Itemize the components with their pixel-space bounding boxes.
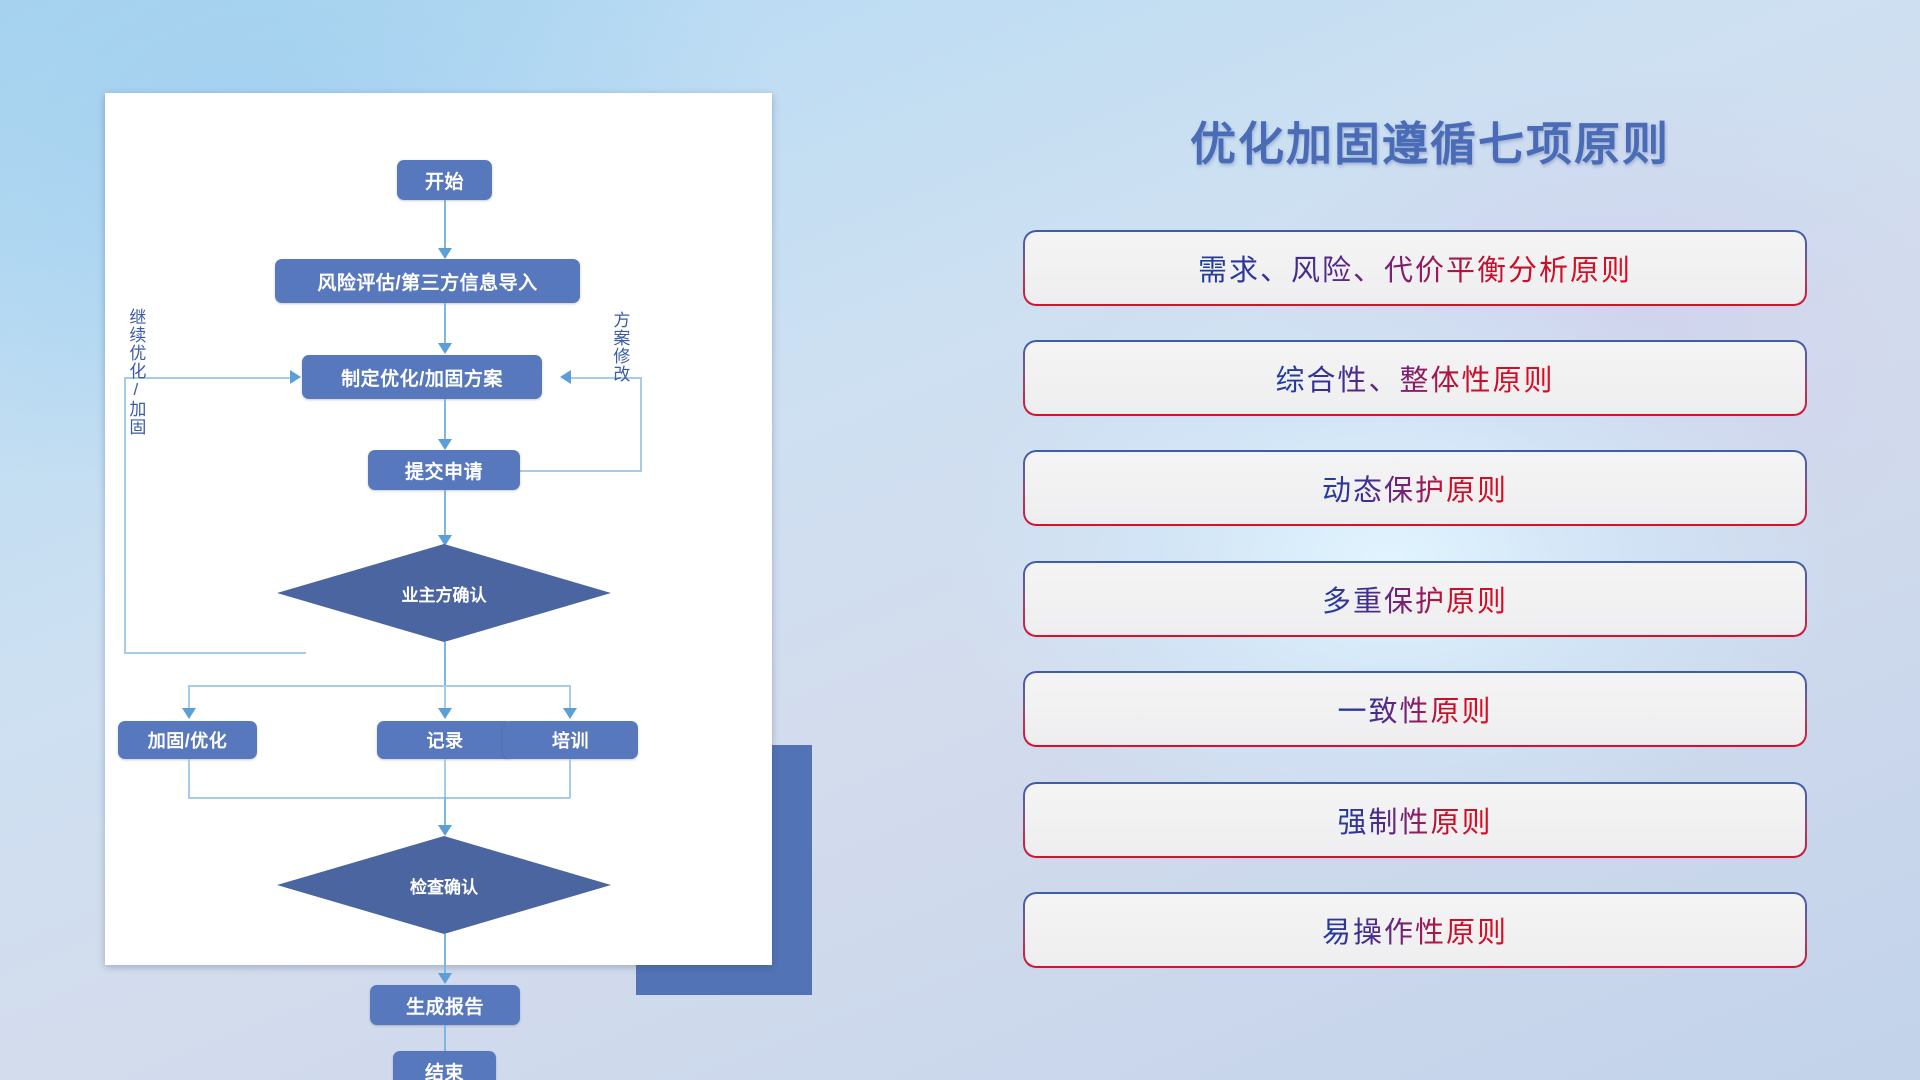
connector-check-report <box>444 934 446 978</box>
flow-node-report-label: 生成报告 <box>406 992 484 1019</box>
arrow-plan-submit <box>438 439 452 450</box>
flowchart-card: 开始 风险评估/第三方信息导入 制定优化/加固方案 继续优化/加固 <box>105 93 772 965</box>
principle-item-3[interactable]: 动态保护原则 <box>1025 452 1805 524</box>
flow-node-plan-label: 制定优化/加固方案 <box>341 364 503 391</box>
arrow-to-training <box>563 708 577 719</box>
edge-label-plan-revision: 方案修改 <box>611 311 628 383</box>
panel-title: 优化加固遵循七项原则 <box>1010 108 1850 174</box>
flow-node-submit[interactable]: 提交申请 <box>368 450 520 490</box>
flow-decision-check-confirm[interactable]: 检查确认 <box>277 836 611 934</box>
connector-owner-down <box>444 642 446 686</box>
principle-item-5-label: 一致性原则 <box>1337 688 1492 730</box>
flow-node-training[interactable]: 培训 <box>503 721 638 759</box>
principle-item-2[interactable]: 综合性、整体性原则 <box>1025 342 1805 414</box>
principles-panel: 优化加固遵循七项原则 需求、风险、代价平衡分析原则 综合性、整体性原则 动态保护… <box>1010 80 1850 1040</box>
flow-node-end-label: 结束 <box>425 1058 464 1080</box>
connector-merge-right <box>569 759 571 798</box>
flow-node-record[interactable]: 记录 <box>377 721 513 759</box>
connector-merge-mid <box>444 759 446 798</box>
flow-decision-check-confirm-label: 检查确认 <box>410 873 478 898</box>
arrow-to-record <box>438 708 452 719</box>
flow-node-training-label: 培训 <box>552 727 589 753</box>
principle-item-7[interactable]: 易操作性原则 <box>1025 894 1805 966</box>
flow-node-plan[interactable]: 制定优化/加固方案 <box>302 355 542 399</box>
principle-item-6[interactable]: 强制性原则 <box>1025 784 1805 856</box>
principle-item-1-label: 需求、风险、代价平衡分析原则 <box>1198 247 1632 289</box>
connector-merge-bus <box>188 797 570 799</box>
arrow-merge-check <box>438 825 452 836</box>
flow-node-end[interactable]: 结束 <box>393 1051 496 1080</box>
flowchart: 开始 风险评估/第三方信息导入 制定优化/加固方案 继续优化/加固 <box>105 93 772 965</box>
principle-item-6-label: 强制性原则 <box>1337 799 1492 841</box>
flow-node-record-label: 记录 <box>427 727 464 753</box>
connector-left-loop-bottom <box>124 652 306 654</box>
flow-node-report[interactable]: 生成报告 <box>370 985 520 1025</box>
arrow-to-reinforce <box>182 708 196 719</box>
arrow-check-report <box>438 973 452 984</box>
edge-label-continue-optimize: 继续优化/加固 <box>127 308 144 436</box>
connector-right-loop-vertical <box>640 377 642 472</box>
flow-decision-owner-confirm-label: 业主方确认 <box>402 581 487 606</box>
principle-item-3-label: 动态保护原则 <box>1322 467 1508 509</box>
connector-right-loop-top <box>571 377 642 379</box>
flow-node-reinforce[interactable]: 加固/优化 <box>118 721 257 759</box>
principle-item-4-label: 多重保护原则 <box>1322 578 1508 620</box>
arrow-assess-plan <box>438 343 452 354</box>
arrow-right-loop-into-plan <box>560 370 571 384</box>
flow-node-start-label: 开始 <box>425 167 464 194</box>
slide-canvas: 开始 风险评估/第三方信息导入 制定优化/加固方案 继续优化/加固 <box>0 0 1920 1080</box>
principle-item-1[interactable]: 需求、风险、代价平衡分析原则 <box>1025 232 1805 304</box>
flow-node-reinforce-label: 加固/优化 <box>148 727 228 753</box>
principle-item-4[interactable]: 多重保护原则 <box>1025 563 1805 635</box>
connector-assess-plan <box>444 303 446 348</box>
principle-item-5[interactable]: 一致性原则 <box>1025 673 1805 745</box>
flow-node-submit-label: 提交申请 <box>405 457 483 484</box>
flow-node-assess[interactable]: 风险评估/第三方信息导入 <box>275 259 580 303</box>
connector-merge-left <box>188 759 190 798</box>
flow-decision-owner-confirm-box[interactable]: 业主方确认 <box>277 544 611 642</box>
connector-plan-submit <box>444 399 446 444</box>
principle-item-2-label: 综合性、整体性原则 <box>1275 357 1554 399</box>
flow-node-start[interactable]: 开始 <box>397 160 492 200</box>
connector-submit-owner <box>444 490 446 540</box>
connector-left-loop-top <box>124 377 291 379</box>
connector-start-assess <box>444 200 446 252</box>
arrow-start-assess <box>438 248 452 259</box>
arrow-left-loop-into-plan <box>290 370 301 384</box>
connector-fanout-bus <box>188 685 570 687</box>
connector-right-loop-bottom <box>519 470 642 472</box>
principle-item-7-label: 易操作性原则 <box>1322 909 1508 951</box>
flow-node-assess-label: 风险评估/第三方信息导入 <box>317 268 537 295</box>
